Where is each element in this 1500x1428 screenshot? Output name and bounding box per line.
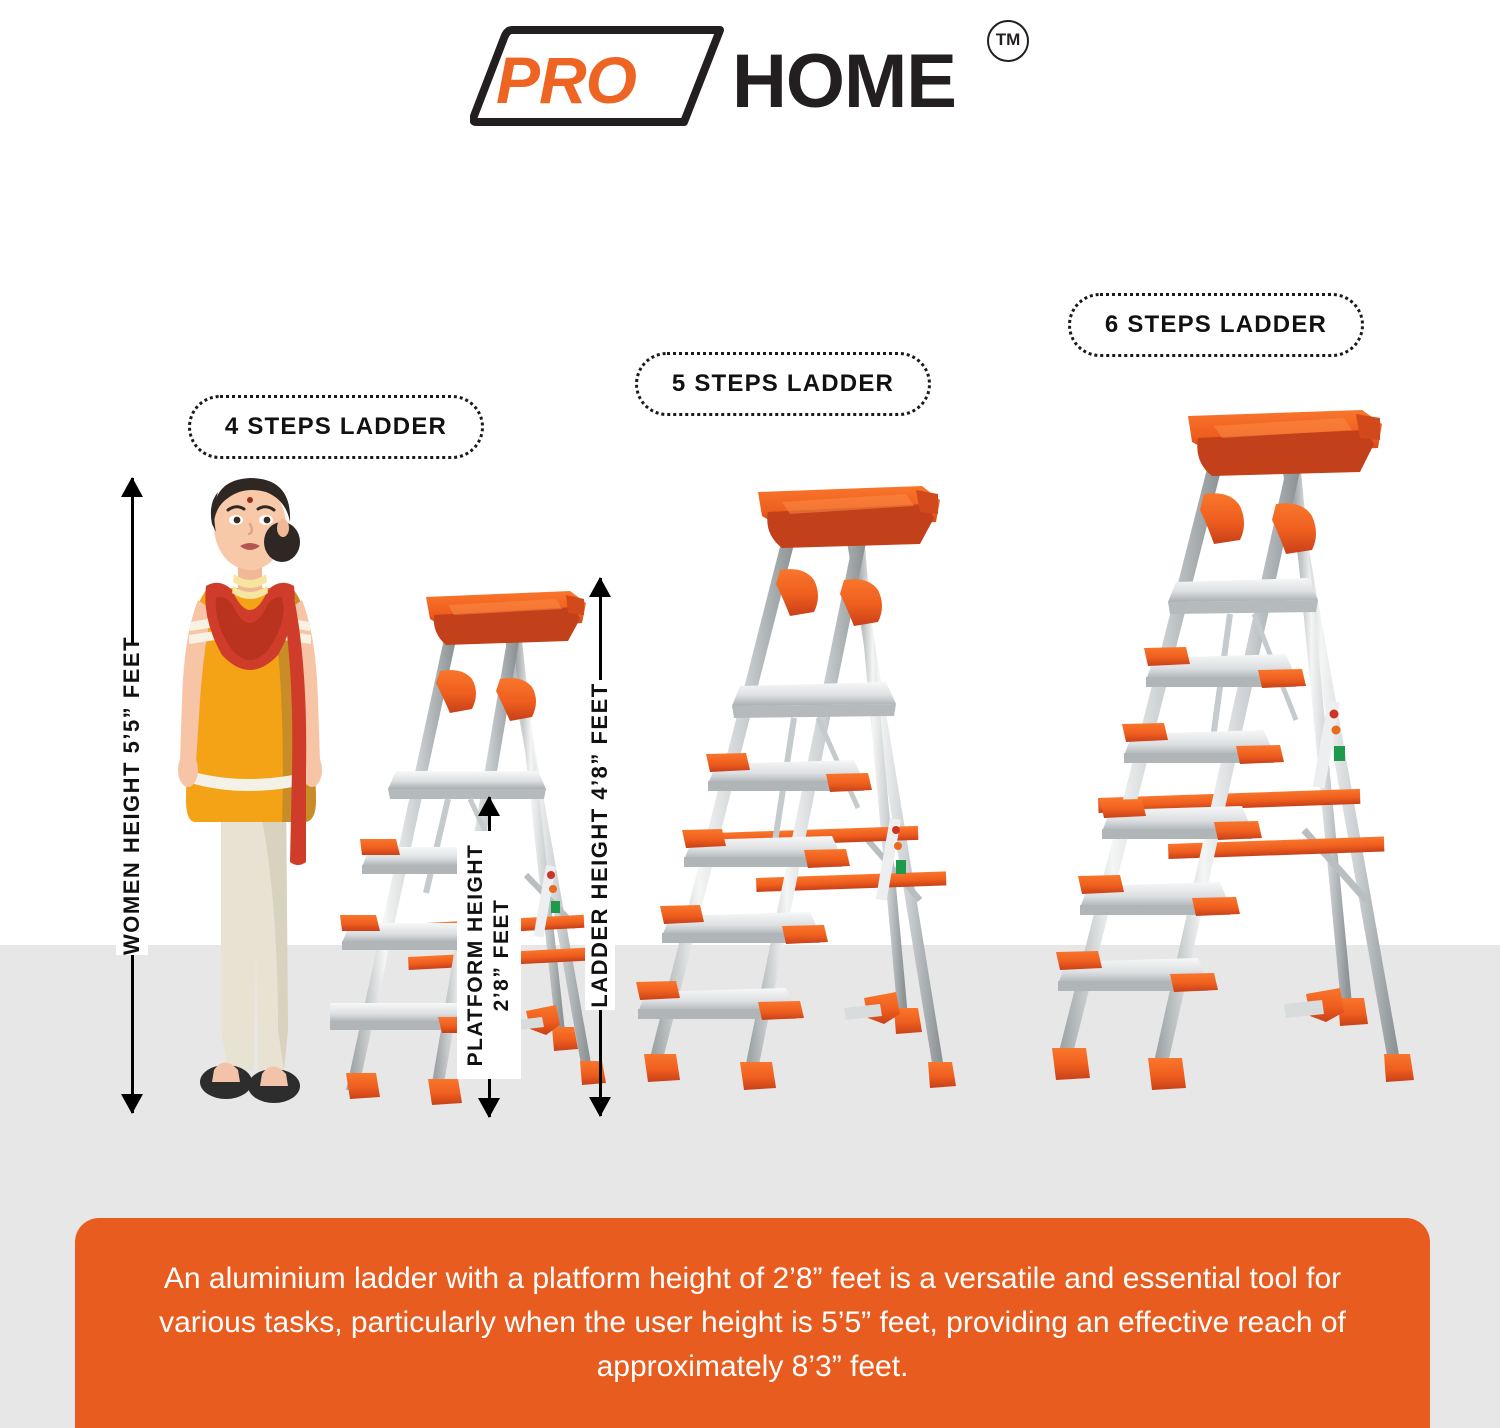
- ladder-height-label: LADDER HEIGHT 4’8” FEET: [585, 680, 615, 1010]
- arrow-head-up-icon: [589, 577, 611, 597]
- logo-text-home: HOME: [732, 38, 956, 125]
- logo-text-pro: PRO: [496, 42, 636, 118]
- ladder-5-steps: [628, 468, 968, 1120]
- infographic-page: PRO HOME TM 4 STEPS LADDER 5 STEPS LADDE…: [0, 0, 1500, 1428]
- arrow-head-down-icon: [589, 1097, 611, 1117]
- ladder-6-steps: [1040, 400, 1435, 1120]
- arrow-head-down-icon: [478, 1098, 500, 1118]
- platform-height-label: PLATFORM HEIGHT 2’8” FEET: [457, 831, 521, 1079]
- woman-figure: [166, 470, 336, 1115]
- badge-6-steps-ladder: 6 STEPS LADDER: [1068, 293, 1364, 357]
- platform-height-label-line1: PLATFORM HEIGHT: [463, 835, 489, 1075]
- badge-4-steps-ladder: 4 STEPS LADDER: [188, 395, 484, 459]
- women-height-label: WOMEN HEIGHT 5’5” FEET: [116, 645, 148, 955]
- arrow-head-up-icon: [121, 477, 143, 497]
- description-text: An aluminium ladder with a platform heig…: [75, 1257, 1430, 1389]
- brand-logo: PRO HOME TM: [470, 12, 1040, 137]
- platform-height-label-line2: 2’8” FEET: [489, 835, 515, 1075]
- trademark-icon: TM: [987, 20, 1029, 62]
- arrow-head-down-icon: [121, 1094, 143, 1114]
- arrow-head-up-icon: [478, 796, 500, 816]
- badge-5-steps-ladder: 5 STEPS LADDER: [635, 352, 931, 416]
- description-panel: An aluminium ladder with a platform heig…: [75, 1218, 1430, 1428]
